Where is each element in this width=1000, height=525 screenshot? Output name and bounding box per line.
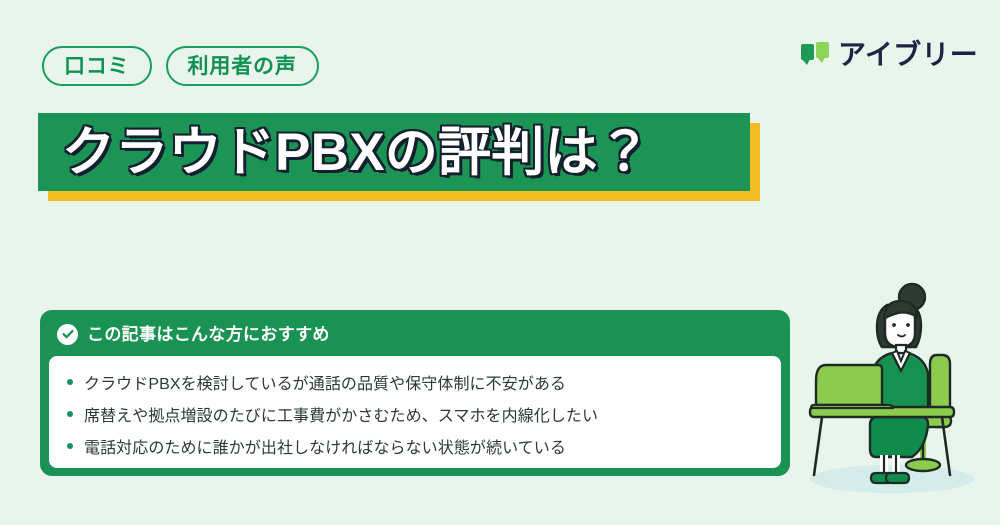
title-banner: クラウドPBXの評判は？ — [38, 113, 750, 191]
check-circle-icon — [57, 324, 78, 345]
list-item: クラウドPBXを検討しているが通話の品質や保守体制に不安がある — [67, 369, 763, 401]
list-item-label: 席替えや拠点増設のたびに工事費がかさむため、スマホを内線化したい — [84, 401, 598, 433]
speech-bubbles-icon — [801, 42, 831, 68]
brand-logo-text: アイブリー — [838, 41, 978, 69]
list-item: 席替えや拠点増設のたびに工事費がかさむため、スマホを内線化したい — [67, 401, 763, 433]
tag-pill-kuchikomi[interactable]: 口コミ — [42, 46, 152, 86]
bullet-dot-icon — [67, 443, 73, 449]
recommend-box: この記事はこんな方におすすめ クラウドPBXを検討しているが通話の品質や保守体制… — [40, 310, 790, 476]
recommend-box-title: この記事はこんな方におすすめ — [87, 326, 330, 343]
speech-bubble-dark-icon — [801, 44, 814, 60]
brand-logo[interactable]: アイブリー — [801, 41, 978, 69]
recommend-box-content: クラウドPBXを検討しているが通話の品質や保守体制に不安がある 席替えや拠点増設… — [49, 356, 781, 468]
page-title: クラウドPBXの評判は？ — [62, 126, 651, 179]
recommend-list: クラウドPBXを検討しているが通話の品質や保守体制に不安がある 席替えや拠点増設… — [67, 369, 763, 465]
list-item-label: 電話対応のために誰かが出社しなければならない状態が続いている — [84, 433, 566, 465]
tag-pill-user-voice[interactable]: 利用者の声 — [166, 46, 319, 86]
list-item: 電話対応のために誰かが出社しなければならない状態が続いている — [67, 433, 763, 465]
woman-working-at-desk-with-laptop-illustration — [792, 273, 992, 503]
recommend-box-header: この記事はこんな方におすすめ — [49, 319, 781, 349]
bullet-dot-icon — [67, 411, 73, 417]
tag-pill-label: 口コミ — [64, 56, 130, 77]
list-item-label: クラウドPBXを検討しているが通話の品質や保守体制に不安がある — [84, 369, 566, 401]
title-banner-wrapper: クラウドPBXの評判は？ — [38, 113, 750, 191]
tag-row: 口コミ 利用者の声 — [42, 46, 319, 86]
bullet-dot-icon — [67, 379, 73, 385]
tag-pill-label: 利用者の声 — [188, 56, 297, 77]
speech-bubble-light-icon — [816, 42, 829, 58]
